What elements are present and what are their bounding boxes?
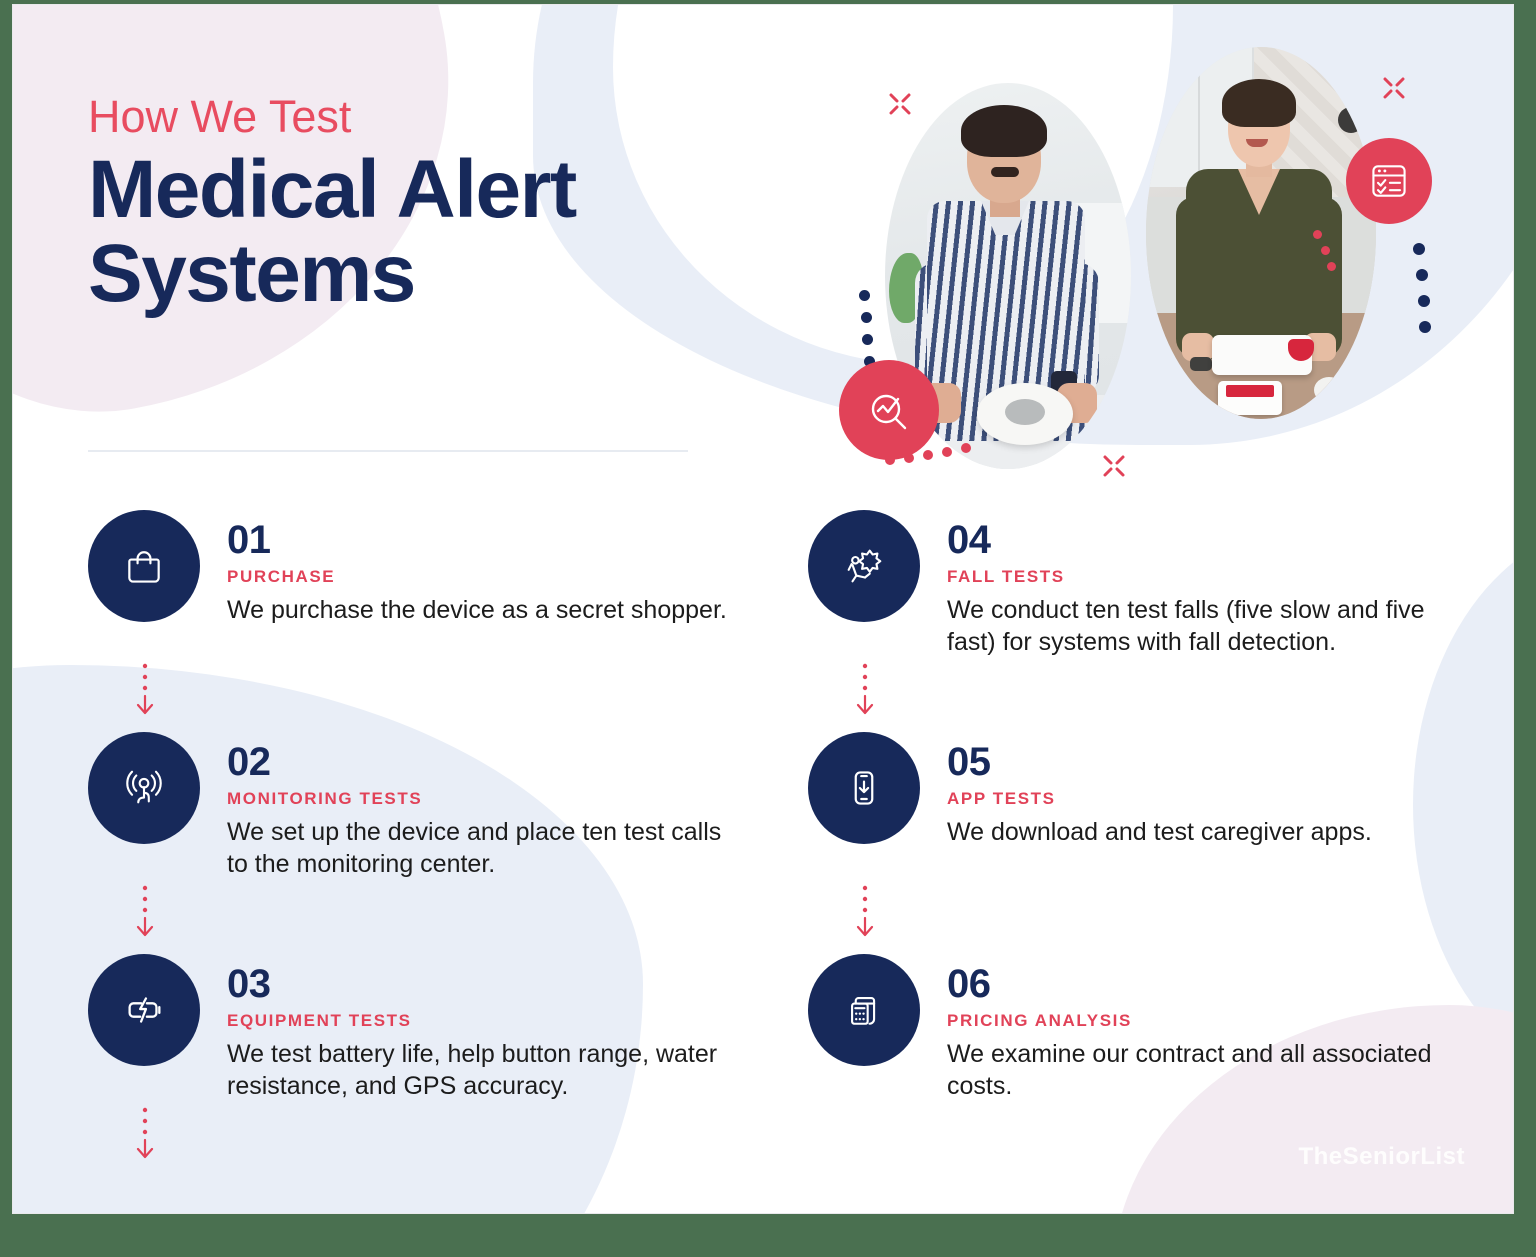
connector-arrow-04	[856, 662, 874, 724]
step-number-05: 05	[947, 742, 1372, 782]
dot-trail-navy-right	[1413, 243, 1431, 333]
step-desc-02: We set up the device and place ten test …	[227, 816, 743, 880]
step-label-05: APP TESTS	[947, 789, 1372, 809]
shopping-bag-icon	[122, 544, 166, 588]
checklist-icon	[1367, 159, 1411, 203]
step-number-01: 01	[227, 520, 727, 560]
page-title-line-2: Systems	[88, 228, 415, 319]
step-icon-circle-02	[88, 732, 200, 844]
step-body-04: 04 FALL TESTS We conduct ten test falls …	[947, 510, 1467, 658]
person-falling-icon	[841, 543, 887, 589]
connector-arrow-02	[136, 884, 154, 946]
calculator-document-icon	[842, 988, 886, 1032]
step-icon-circle-01	[88, 510, 200, 622]
connector-arrow-05	[856, 884, 874, 946]
step-number-02: 02	[227, 742, 743, 782]
eyebrow-text: How We Test	[88, 93, 788, 140]
step-body-05: 05 APP TESTS We download and test caregi…	[947, 732, 1372, 848]
step-icon-circle-03	[88, 954, 200, 1066]
badge-checklist	[1346, 138, 1432, 224]
step-item-05: 05 APP TESTS We download and test caregi…	[808, 732, 1473, 954]
step-label-03: EQUIPMENT TESTS	[227, 1011, 743, 1031]
step-body-03: 03 EQUIPMENT TESTS We test battery life,…	[227, 954, 743, 1102]
step-desc-05: We download and test caregiver apps.	[947, 816, 1372, 848]
step-desc-03: We test battery life, help button range,…	[227, 1038, 743, 1102]
page-title-line-1: Medical Alert	[88, 144, 576, 235]
step-desc-01: We purchase the device as a secret shopp…	[227, 594, 727, 626]
step-label-04: FALL TESTS	[947, 567, 1467, 587]
connector-arrow-01	[136, 662, 154, 724]
dot-trail-red-badge	[1313, 230, 1336, 271]
infographic-card: How We Test Medical Alert Systems	[12, 4, 1514, 1214]
step-desc-04: We conduct ten test falls (five slow and…	[947, 594, 1467, 658]
step-icon-circle-04	[808, 510, 920, 622]
connector-arrow-03	[136, 1106, 154, 1168]
sparkle-x-icon-3	[1101, 453, 1127, 479]
step-body-01: 01 PURCHASE We purchase the device as a …	[227, 510, 727, 626]
step-item-02: 02 MONITORING TESTS We set up the device…	[88, 732, 743, 954]
steps-column-left: 01 PURCHASE We purchase the device as a …	[13, 510, 743, 1176]
hand-press-signal-icon	[121, 765, 167, 811]
step-item-03: 03 EQUIPMENT TESTS We test battery life,…	[88, 954, 743, 1176]
step-icon-circle-06	[808, 954, 920, 1066]
steps-grid: 01 PURCHASE We purchase the device as a …	[13, 510, 1513, 1176]
step-item-01: 01 PURCHASE We purchase the device as a …	[88, 510, 743, 732]
infographic-canvas: How We Test Medical Alert Systems	[0, 0, 1536, 1257]
header-divider	[88, 450, 688, 452]
step-label-01: PURCHASE	[227, 567, 727, 587]
photo-woman-with-help-button	[1146, 47, 1376, 419]
search-chart-icon	[865, 386, 913, 434]
step-item-04: 04 FALL TESTS We conduct ten test falls …	[808, 510, 1473, 732]
step-desc-06: We examine our contract and all associat…	[947, 1038, 1467, 1102]
step-body-06: 06 PRICING ANALYSIS We examine our contr…	[947, 954, 1467, 1102]
step-number-04: 04	[947, 520, 1467, 560]
step-icon-circle-05	[808, 732, 920, 844]
step-number-03: 03	[227, 964, 743, 1004]
step-label-02: MONITORING TESTS	[227, 789, 743, 809]
watermark-logo: TheSeniorList	[1298, 1143, 1465, 1171]
battery-charge-icon	[121, 987, 167, 1033]
badge-search	[839, 360, 939, 460]
step-label-06: PRICING ANALYSIS	[947, 1011, 1467, 1031]
step-body-02: 02 MONITORING TESTS We set up the device…	[227, 732, 743, 880]
sparkle-x-icon-1	[887, 91, 913, 117]
phone-download-icon	[842, 766, 886, 810]
page-title: Medical Alert Systems	[88, 148, 788, 315]
sparkle-x-icon-2	[1381, 75, 1407, 101]
step-number-06: 06	[947, 964, 1467, 1004]
header: How We Test Medical Alert Systems	[88, 93, 788, 316]
